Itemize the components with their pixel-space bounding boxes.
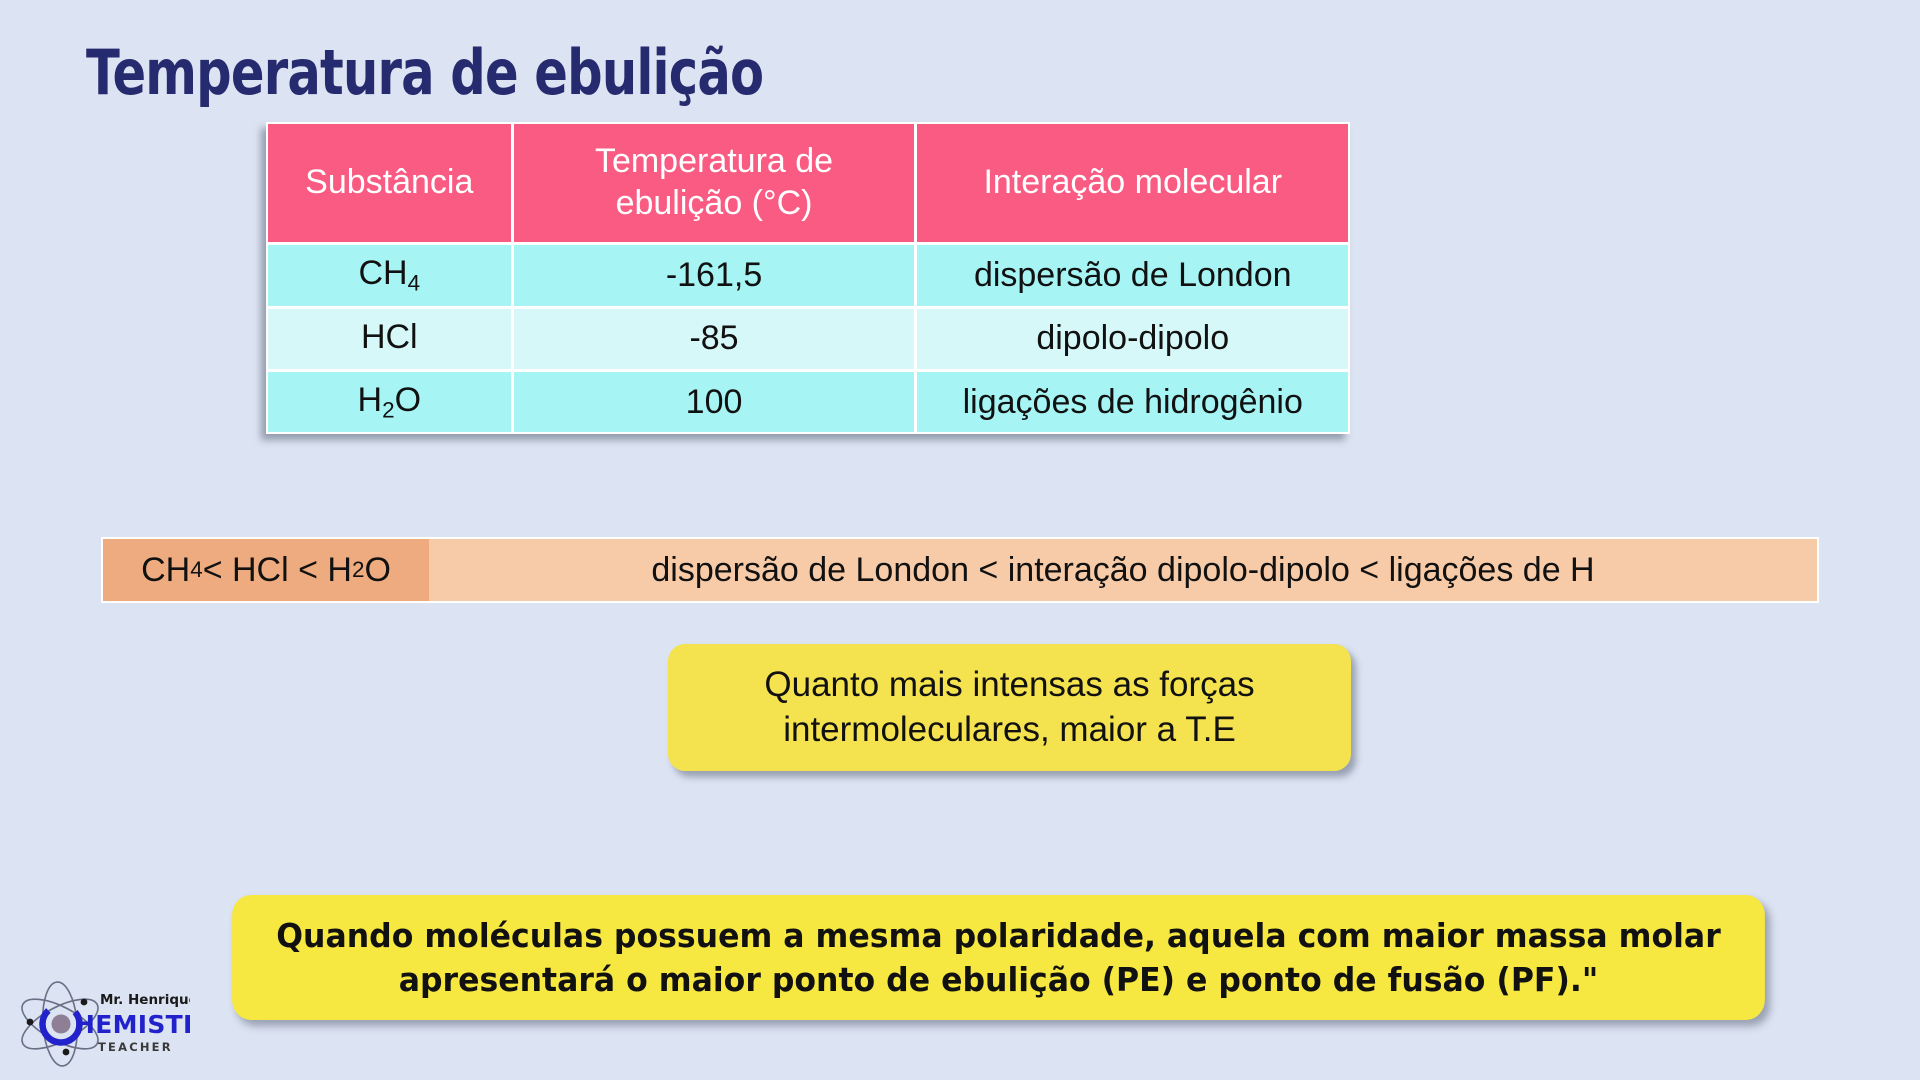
cell-interaction: dipolo-dipolo (916, 307, 1348, 370)
comparison-a-subscript: 4 (190, 557, 202, 583)
atom-icon: Mr. Henrique HEMISTRY TEACHER (14, 978, 190, 1070)
comparison-substance-order: CH4 < HCl < H2O (103, 539, 429, 601)
column-header-interaction: Interação molecular (916, 124, 1348, 244)
table-row: HCl -85 dipolo-dipolo (268, 307, 1348, 370)
callout-conclusion: Quando moléculas possuem a mesma polarid… (232, 895, 1765, 1020)
brand-logo: Mr. Henrique HEMISTRY TEACHER (14, 978, 190, 1070)
comparison-a-base: CH (141, 551, 190, 590)
electron-dot (63, 1049, 70, 1056)
column-header-boiling-point: Temperatura de ebulição (°C) (512, 124, 916, 244)
callout-conclusion-text: Quando moléculas possuem a mesma polarid… (276, 914, 1721, 1002)
substance-formula-subscript: 4 (408, 271, 420, 296)
comparison-interaction-order: dispersão de London < interação dipolo-d… (429, 539, 1817, 601)
page-title: Temperatura de ebulição (86, 42, 763, 104)
logo-top-text: Mr. Henrique (100, 992, 190, 1008)
cell-interaction: ligações de hidrogênio (916, 370, 1348, 432)
callout-forces-line1: Quanto mais intensas as forças (764, 665, 1254, 704)
substance-formula-base: CH (358, 254, 407, 292)
table-row: H2O 100 ligações de hidrogênio (268, 370, 1348, 432)
callout-conclusion-line2: apresentará o maior ponto de ebulição (P… (399, 960, 1599, 999)
cell-interaction: dispersão de London (916, 244, 1348, 307)
cell-boiling-point: -161,5 (512, 244, 916, 307)
cell-substance: CH4 (268, 244, 512, 307)
substance-formula-subscript: 2 (382, 397, 394, 422)
cell-substance: H2O (268, 370, 512, 432)
comparison-banner: CH4 < HCl < H2O dispersão de London < in… (101, 537, 1819, 603)
callout-conclusion-line1: Quando moléculas possuem a mesma polarid… (276, 916, 1721, 955)
cell-substance: HCl (268, 307, 512, 370)
table-header-row: Substância Temperatura de ebulição (°C) … (268, 124, 1348, 244)
boiling-point-table: Substância Temperatura de ebulição (°C) … (268, 124, 1348, 432)
table-row: CH4 -161,5 dispersão de London (268, 244, 1348, 307)
comparison-tail: O (364, 551, 390, 590)
column-header-interaction-label: Interação molecular (983, 163, 1282, 201)
substance-formula-base: HCl (361, 318, 418, 356)
cell-boiling-point: 100 (512, 370, 916, 432)
electron-dot (81, 999, 88, 1006)
logo-main-text: HEMISTRY (74, 1010, 190, 1039)
logo-bottom-text: TEACHER (98, 1040, 173, 1054)
callout-intermolecular-forces: Quanto mais intensas as forças intermole… (668, 644, 1351, 771)
callout-forces-text: Quanto mais intensas as forças intermole… (764, 663, 1254, 751)
callout-forces-line2: intermoleculares, maior a T.E (783, 710, 1236, 749)
electron-dot (27, 1019, 34, 1026)
boiling-point-table-container: Substância Temperatura de ebulição (°C) … (266, 122, 1350, 434)
nucleus (52, 1015, 71, 1034)
substance-formula-base: H (358, 381, 383, 419)
column-header-substance-label: Substância (305, 163, 473, 201)
column-header-substance: Substância (268, 124, 512, 244)
column-header-boiling-point-line1: Temperatura de (595, 142, 833, 180)
substance-formula-tail: O (395, 381, 421, 419)
comparison-mid: < HCl < H (203, 551, 352, 590)
comparison-b-subscript: 2 (352, 557, 364, 583)
cell-boiling-point: -85 (512, 307, 916, 370)
column-header-boiling-point-line2: ebulição (°C) (616, 184, 813, 222)
